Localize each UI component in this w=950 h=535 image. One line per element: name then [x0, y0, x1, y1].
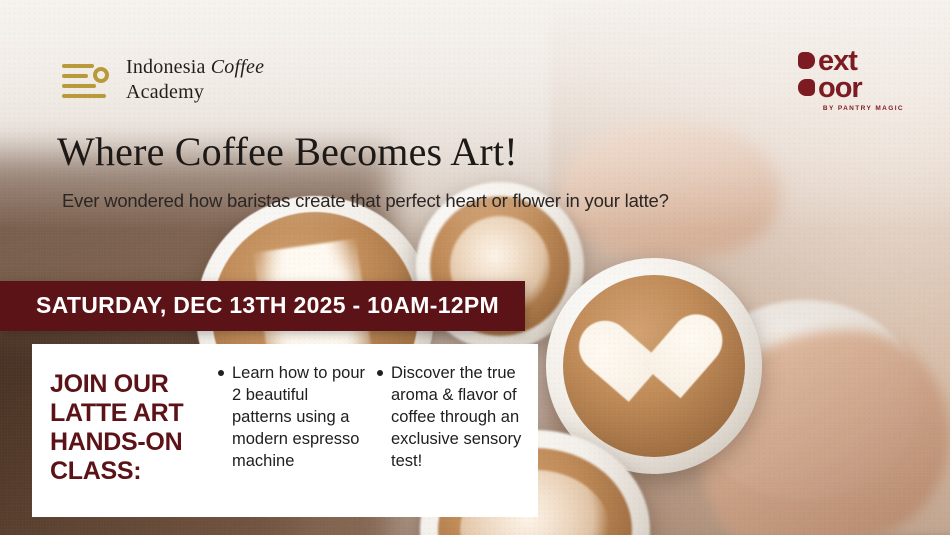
date-time-text: SATURDAY, DEC 13TH 2025 - 10AM-12PM — [36, 292, 499, 318]
partner-logo-tagline: BY PANTRY MAGIC — [798, 105, 908, 112]
brand-name-line1: Indonesia Coffee — [126, 56, 264, 78]
partner-logo-line1: ext — [798, 48, 908, 75]
partner-logo-wordmark: ext oor — [798, 48, 908, 102]
card-title: JOIN OUR LATTE ART HANDS-ON CLASS: — [50, 358, 210, 507]
card-scallop-right — [531, 344, 545, 517]
bullet-dot-icon — [218, 370, 224, 376]
list-item-text: Discover the true aroma & flavor of coff… — [391, 362, 528, 472]
subheadline: Ever wondered how baristas create that p… — [62, 190, 669, 212]
partner-logo-line2: oor — [798, 75, 908, 102]
logo-dot-d-icon — [798, 79, 815, 96]
headline: Where Coffee Becomes Art! — [57, 130, 518, 174]
bullet-column-1: Learn how to pour 2 beautiful patterns u… — [210, 358, 369, 507]
logo-dot-n-icon — [798, 52, 815, 69]
details-card: JOIN OUR LATTE ART HANDS-ON CLASS: Learn… — [32, 344, 538, 517]
list-item: Discover the true aroma & flavor of coff… — [377, 362, 528, 472]
card-scallop-bottom — [32, 510, 538, 524]
list-item-text: Learn how to pour 2 beautiful patterns u… — [232, 362, 369, 472]
bullet-column-2: Discover the true aroma & flavor of coff… — [369, 358, 528, 507]
list-item: Learn how to pour 2 beautiful patterns u… — [218, 362, 369, 472]
poster-content: Indonesia Coffee Academy ext oor BY PANT… — [0, 0, 950, 535]
partner-logo: ext oor BY PANTRY MAGIC — [798, 48, 908, 112]
brand-name: Indonesia Coffee Academy — [126, 55, 264, 105]
date-time-banner: SATURDAY, DEC 13TH 2025 - 10AM-12PM — [0, 281, 525, 331]
brand-lockup: Indonesia Coffee Academy — [60, 55, 264, 105]
bullet-dot-icon — [377, 370, 383, 376]
poster-canvas: Indonesia Coffee Academy ext oor BY PANT… — [0, 0, 950, 535]
coffee-bean-lines-icon — [60, 57, 112, 103]
brand-name-line2: Academy — [126, 81, 204, 103]
